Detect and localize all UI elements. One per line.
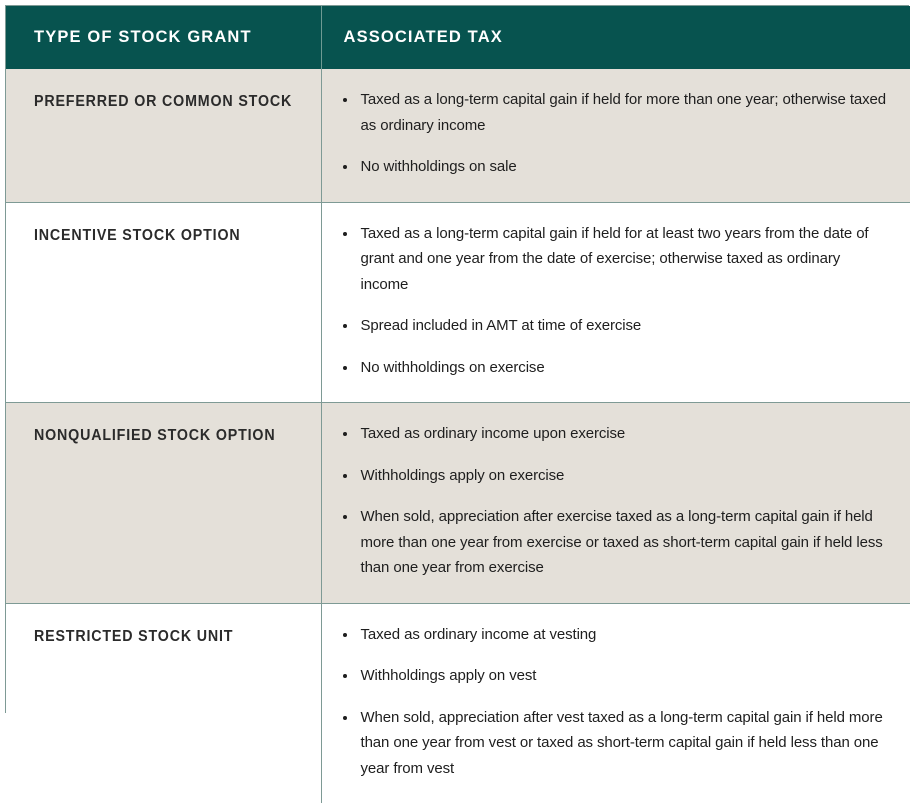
cell-grant-type: INCENTIVE STOCK OPTION (6, 202, 321, 403)
tax-bullet-item: Spread included in AMT at time of exerci… (338, 313, 889, 339)
column-header-type-of-stock-grant: TYPE OF STOCK GRANT (6, 6, 321, 69)
tax-bullet-list: Taxed as ordinary income upon exerciseWi… (338, 421, 889, 581)
tax-bullet-item: Taxed as a long-term capital gain if hel… (338, 221, 889, 298)
grant-type-label: NONQUALIFIED STOCK OPTION (34, 426, 285, 446)
tax-bullet-list: Taxed as ordinary income at vestingWithh… (338, 622, 889, 782)
cell-grant-type: PREFERRED OR COMMON STOCK (6, 69, 321, 202)
tax-bullet-list: Taxed as a long-term capital gain if hel… (338, 87, 889, 180)
tax-bullet-item: No withholdings on exercise (338, 355, 889, 381)
table-row: PREFERRED OR COMMON STOCKTaxed as a long… (6, 69, 910, 202)
grant-type-label: PREFERRED OR COMMON STOCK (34, 92, 285, 112)
tax-bullet-item: Taxed as ordinary income at vesting (338, 622, 889, 648)
tax-bullet-list: Taxed as a long-term capital gain if hel… (338, 221, 889, 381)
table-body: PREFERRED OR COMMON STOCKTaxed as a long… (6, 69, 910, 803)
cell-grant-type: RESTRICTED STOCK UNIT (6, 603, 321, 803)
table-header-row: TYPE OF STOCK GRANT ASSOCIATED TAX (6, 6, 910, 69)
grant-type-label: INCENTIVE STOCK OPTION (34, 226, 285, 246)
cell-associated-tax: Taxed as ordinary income at vestingWithh… (321, 603, 910, 803)
column-header-associated-tax: ASSOCIATED TAX (321, 6, 910, 69)
cell-associated-tax: Taxed as ordinary income upon exerciseWi… (321, 403, 910, 604)
grant-type-label: RESTRICTED STOCK UNIT (34, 627, 285, 647)
tax-bullet-item: No withholdings on sale (338, 154, 889, 180)
tax-bullet-item: Withholdings apply on exercise (338, 463, 889, 489)
tax-bullet-item: Withholdings apply on vest (338, 663, 889, 689)
cell-associated-tax: Taxed as a long-term capital gain if hel… (321, 202, 910, 403)
tax-bullet-item: Taxed as a long-term capital gain if hel… (338, 87, 889, 138)
tax-bullet-item: When sold, appreciation after vest taxed… (338, 705, 889, 782)
grant-tax-comparison-table: TYPE OF STOCK GRANT ASSOCIATED TAX PREFE… (6, 6, 910, 803)
cell-associated-tax: Taxed as a long-term capital gain if hel… (321, 69, 910, 202)
cell-grant-type: NONQUALIFIED STOCK OPTION (6, 403, 321, 604)
table-row: RESTRICTED STOCK UNITTaxed as ordinary i… (6, 603, 910, 803)
tax-bullet-item: When sold, appreciation after exercise t… (338, 504, 889, 581)
tax-bullet-item: Taxed as ordinary income upon exercise (338, 421, 889, 447)
table-header: TYPE OF STOCK GRANT ASSOCIATED TAX (6, 6, 910, 69)
table-row: INCENTIVE STOCK OPTIONTaxed as a long-te… (6, 202, 910, 403)
table-row: NONQUALIFIED STOCK OPTIONTaxed as ordina… (6, 403, 910, 604)
stock-grant-tax-table: TYPE OF STOCK GRANT ASSOCIATED TAX PREFE… (5, 5, 909, 713)
